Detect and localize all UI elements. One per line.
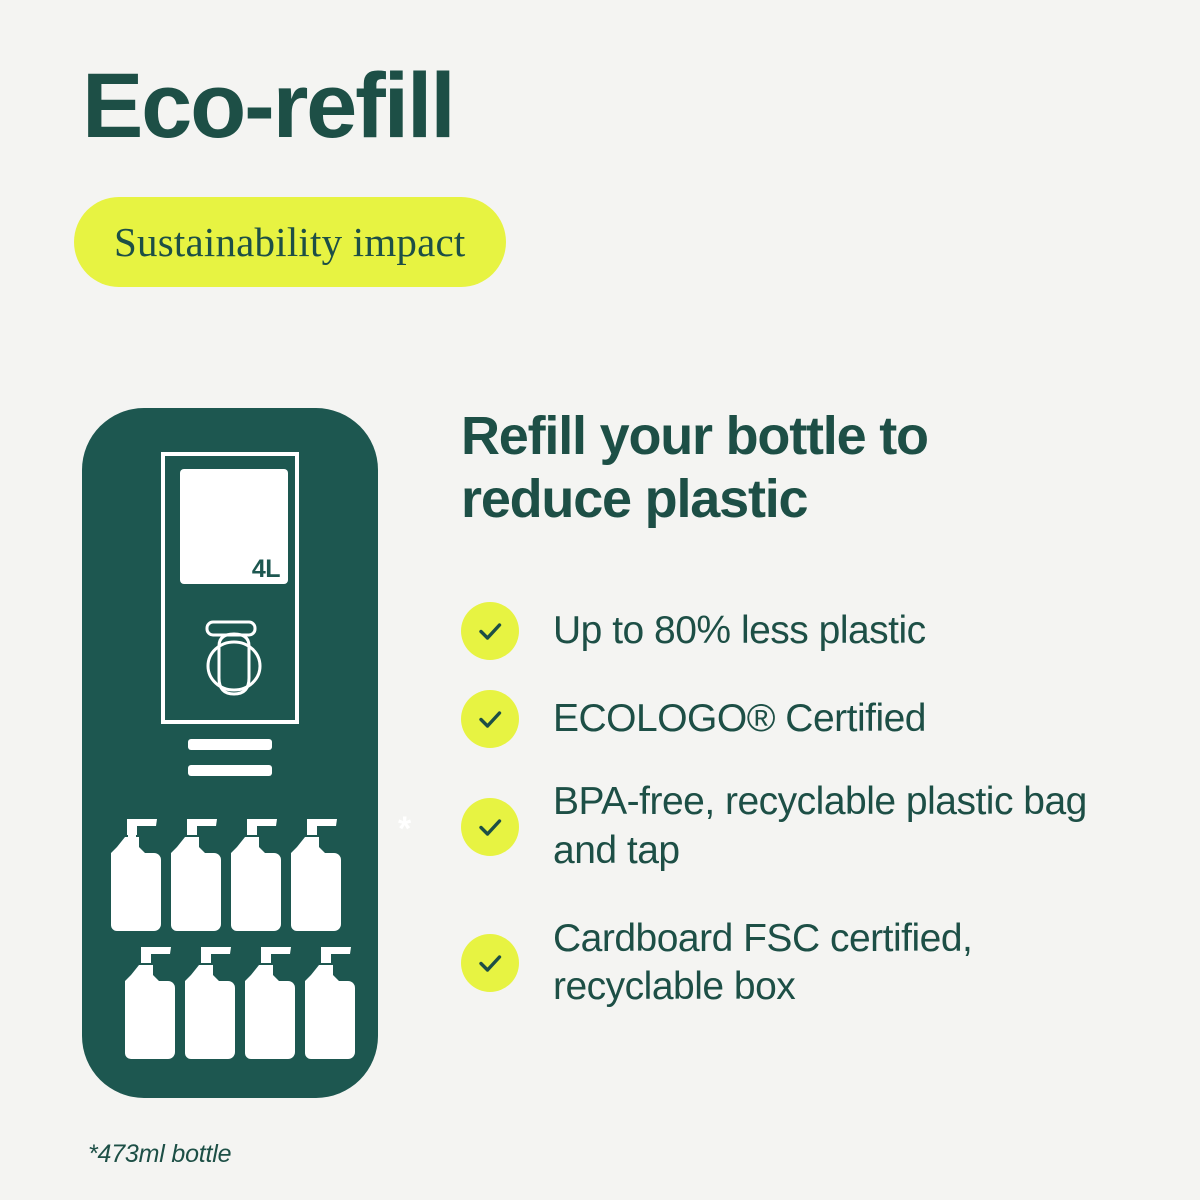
pump-bottle-icon bbox=[304, 941, 358, 1061]
refill-bag-graphic: 4L bbox=[180, 469, 288, 584]
equals-symbol bbox=[188, 739, 272, 776]
pump-bottle-icon bbox=[170, 813, 224, 933]
footnote-asterisk-marker: * bbox=[398, 812, 411, 846]
page-title: Eco-refill bbox=[82, 58, 454, 155]
pump-bottle-icon bbox=[244, 941, 298, 1061]
pump-bottle-icon bbox=[290, 813, 344, 933]
feature-label: ECOLOGO® Certified bbox=[553, 695, 926, 743]
refill-illustration-panel: 4L bbox=[82, 408, 378, 1098]
headline: Refill your bottle to reduce plastic bbox=[461, 405, 1061, 530]
pump-bottle-icon bbox=[110, 813, 164, 933]
feature-label: Up to 80% less plastic bbox=[553, 607, 926, 655]
check-icon bbox=[461, 934, 519, 992]
feature-label: BPA-free, recyclable plastic bag and tap bbox=[553, 778, 1141, 875]
feature-list: Up to 80% less plastic ECOLOGO® Certifie… bbox=[461, 602, 1141, 1011]
pump-bottle-icon bbox=[184, 941, 238, 1061]
content-column: Refill your bottle to reduce plastic Up … bbox=[461, 405, 1141, 1052]
bottle-grid bbox=[110, 813, 360, 1061]
footnote-text: *473ml bottle bbox=[88, 1140, 231, 1169]
tap-spigot-icon bbox=[193, 616, 275, 700]
list-item: ECOLOGO® Certified bbox=[461, 690, 1141, 748]
check-icon bbox=[461, 602, 519, 660]
check-icon bbox=[461, 798, 519, 856]
eco-refill-infographic: Eco-refill Sustainability impact 4L bbox=[0, 0, 1200, 1200]
equals-bar-top bbox=[188, 739, 272, 750]
bag-volume-label: 4L bbox=[252, 557, 280, 582]
pump-bottle-icon bbox=[124, 941, 178, 1061]
bottle-row-2 bbox=[124, 941, 360, 1061]
list-item: Cardboard FSC certified, recyclable box bbox=[461, 915, 1141, 1012]
equals-bar-bottom bbox=[188, 765, 272, 776]
list-item: BPA-free, recyclable plastic bag and tap bbox=[461, 778, 1141, 875]
pump-bottle-icon bbox=[230, 813, 284, 933]
feature-label: Cardboard FSC certified, recyclable box bbox=[553, 915, 1141, 1012]
list-item: Up to 80% less plastic bbox=[461, 602, 1141, 660]
bottle-row-1 bbox=[110, 813, 360, 933]
badge-label: Sustainability impact bbox=[114, 218, 466, 266]
refill-box-outline: 4L bbox=[161, 452, 299, 724]
check-icon bbox=[461, 690, 519, 748]
sustainability-impact-badge: Sustainability impact bbox=[74, 197, 506, 287]
